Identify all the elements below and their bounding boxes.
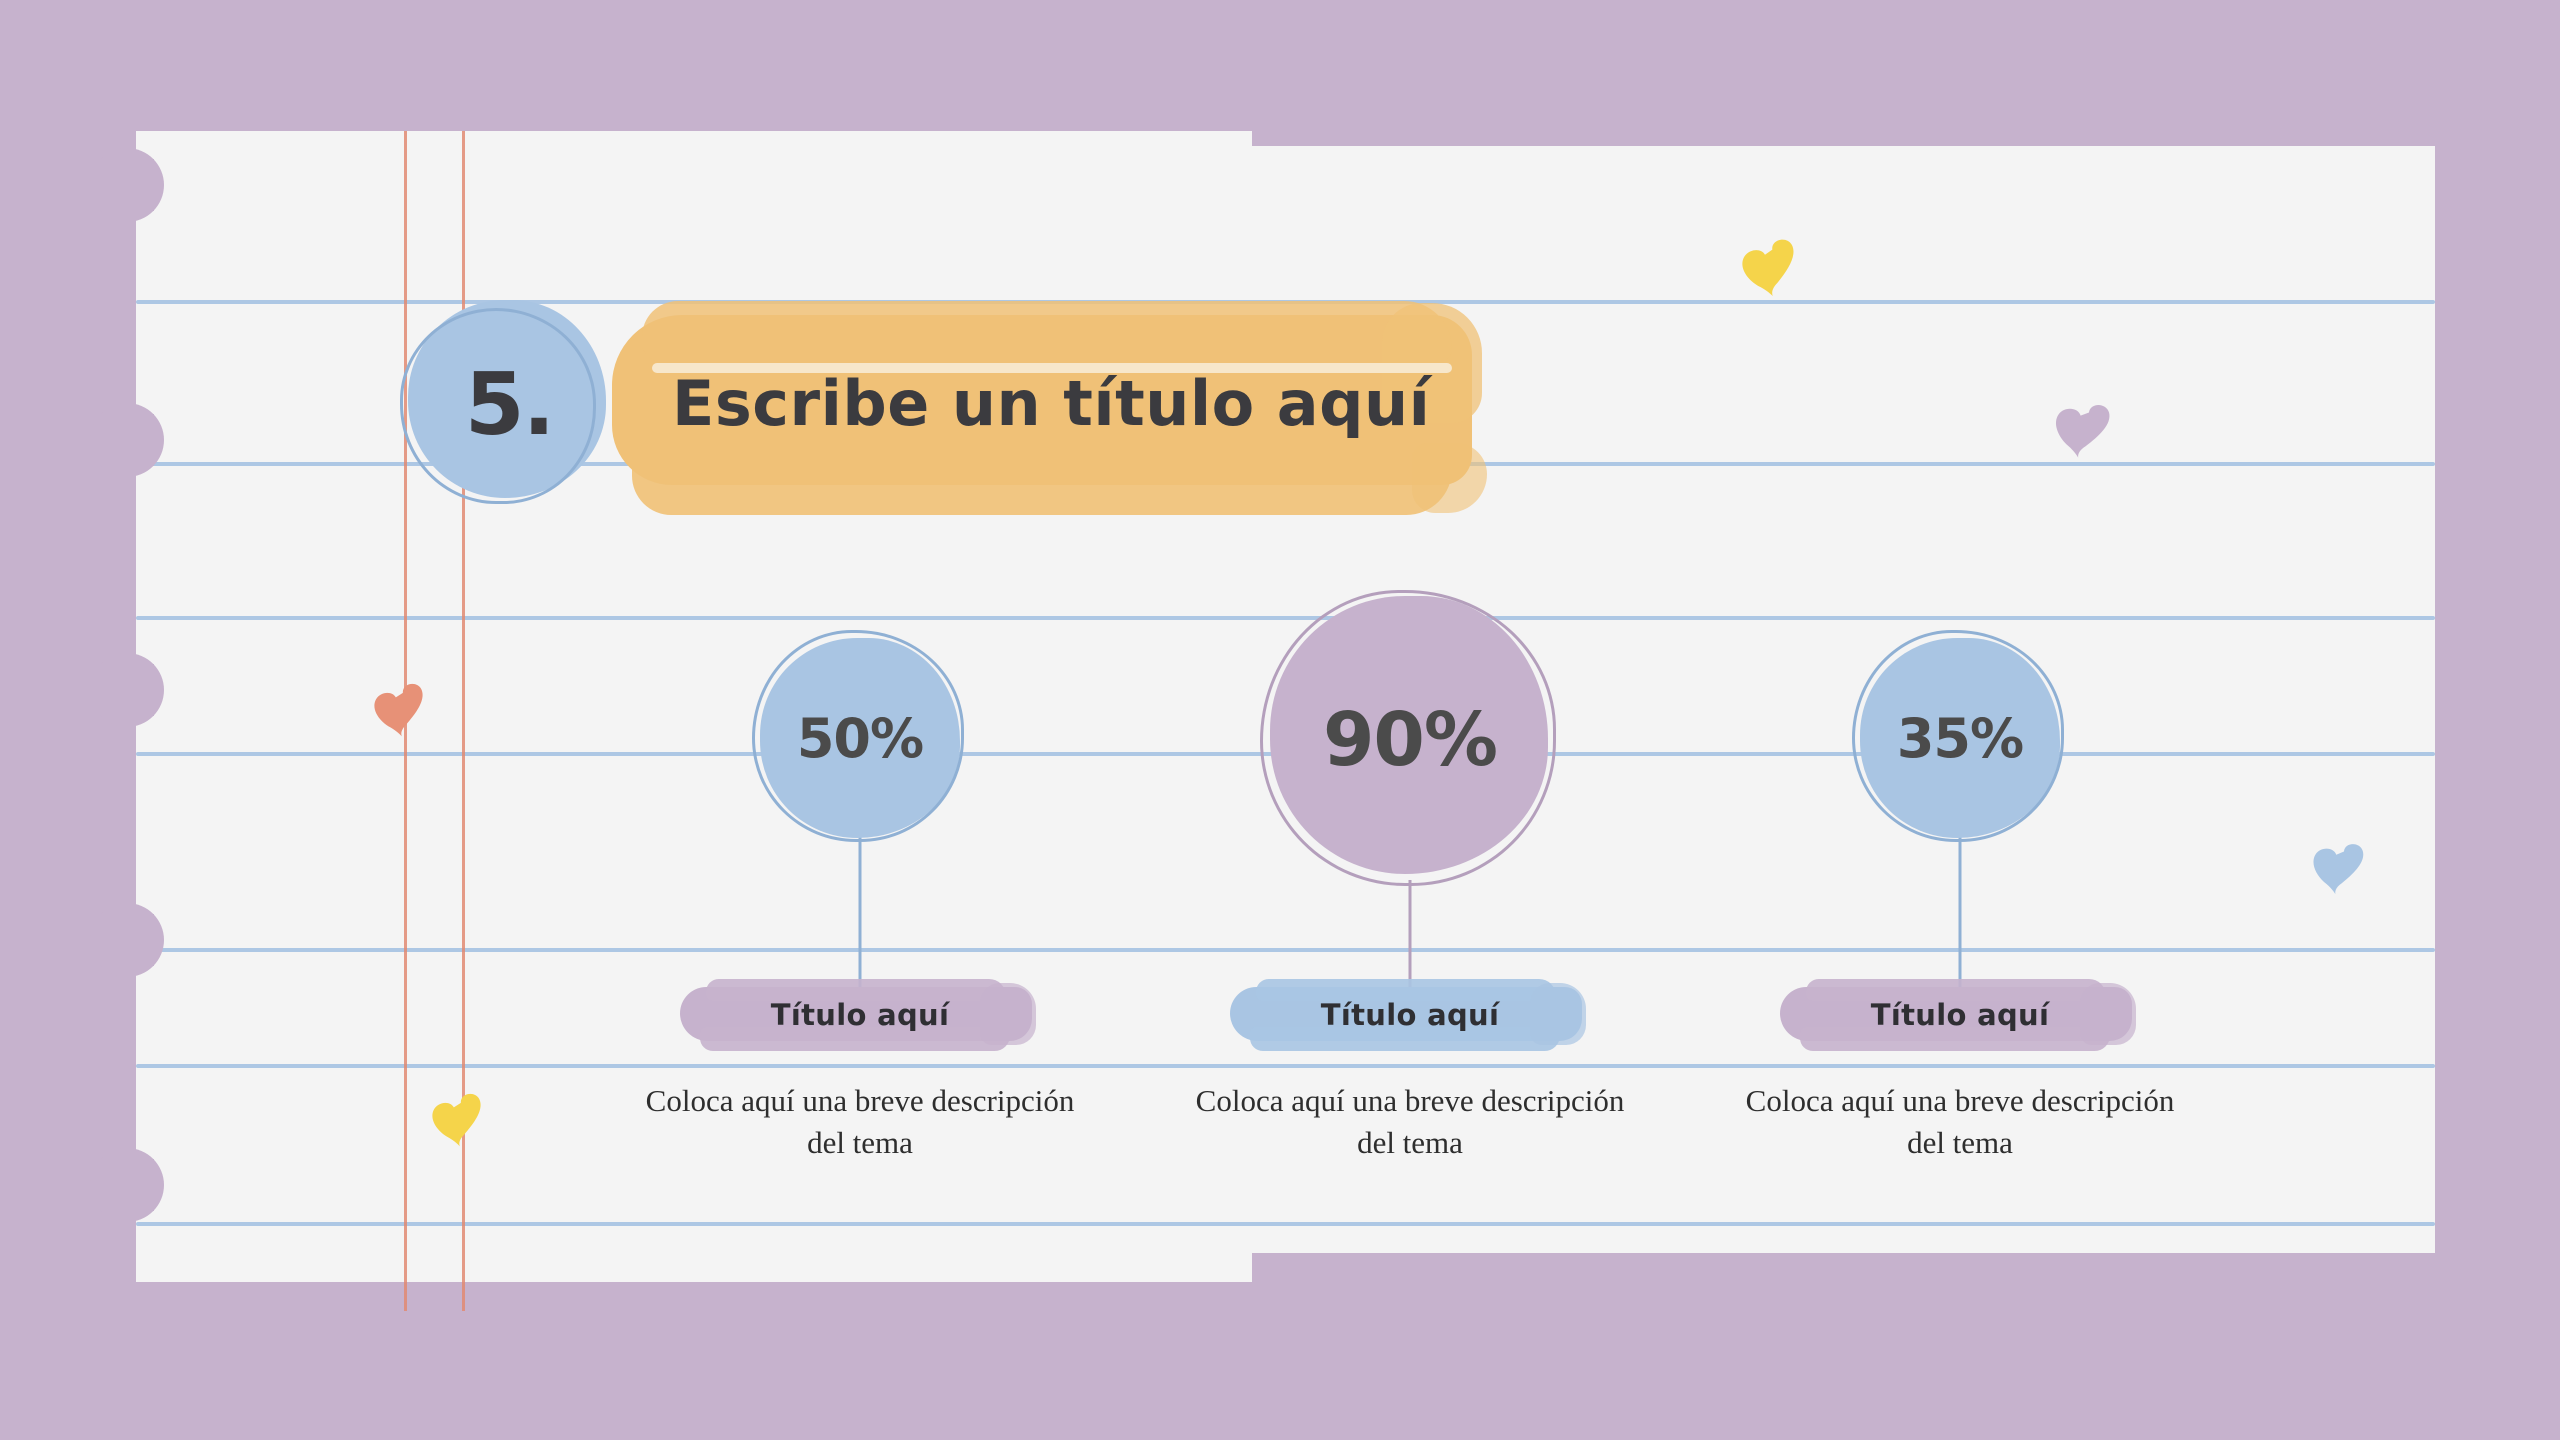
percentage-value-2: 35%: [1852, 630, 2068, 846]
binding-hole-3: [0, 914, 154, 966]
connector-line-2: [1959, 830, 1962, 995]
rule-line-4: [136, 948, 2435, 952]
label-brush-1: Título aquí: [1230, 975, 1590, 1055]
stat-description-1: Coloca aquí una breve descripción del te…: [1180, 1080, 1640, 1164]
binding-hole-0: [0, 159, 154, 211]
stat-column-1: 90%Título aquíColoca aquí una breve desc…: [1180, 590, 1640, 920]
label-brush-2: Título aquí: [1780, 975, 2140, 1055]
connector-line-0: [859, 830, 862, 995]
binding-hole-4: [0, 1159, 154, 1211]
bubble-zone-2: 35%: [1730, 590, 2190, 920]
rule-line-6: [136, 1222, 2435, 1226]
stat-label-2: Título aquí: [1780, 975, 2140, 1055]
bubble-zone-1: 90%: [1180, 590, 1640, 920]
slide-title: Escribe un título aquí: [672, 343, 1462, 463]
percentage-bubble-1[interactable]: 90%: [1260, 590, 1560, 890]
stat-description-0: Coloca aquí una breve descripción del te…: [630, 1080, 1090, 1164]
percentage-bubble-0[interactable]: 50%: [752, 630, 968, 846]
label-brush-0: Título aquí: [680, 975, 1040, 1055]
title-brush-stroke: Escribe un título aquí: [612, 293, 1537, 523]
slide-canvas: 5. Escribe un título aquí 50%Título aquí…: [0, 0, 2560, 1440]
stat-column-0: 50%Título aquíColoca aquí una breve desc…: [630, 590, 1090, 920]
spiral-binding-layer: [0, 0, 300, 1440]
percentage-value-1: 90%: [1260, 590, 1560, 890]
binding-hole-2: [0, 664, 154, 716]
stat-description-2: Coloca aquí una breve descripción del te…: [1730, 1080, 2190, 1164]
stat-label-1: Título aquí: [1230, 975, 1590, 1055]
percentage-bubble-2[interactable]: 35%: [1852, 630, 2068, 846]
step-number-label: 5.: [406, 302, 612, 508]
stat-label-0: Título aquí: [680, 975, 1040, 1055]
step-number-badge: 5.: [400, 300, 606, 506]
rule-line-5: [136, 1064, 2435, 1068]
bubble-zone-0: 50%: [630, 590, 1090, 920]
stat-column-2: 35%Título aquíColoca aquí una breve desc…: [1730, 590, 2190, 920]
percentage-value-0: 50%: [752, 630, 968, 846]
binding-hole-1: [0, 414, 154, 466]
